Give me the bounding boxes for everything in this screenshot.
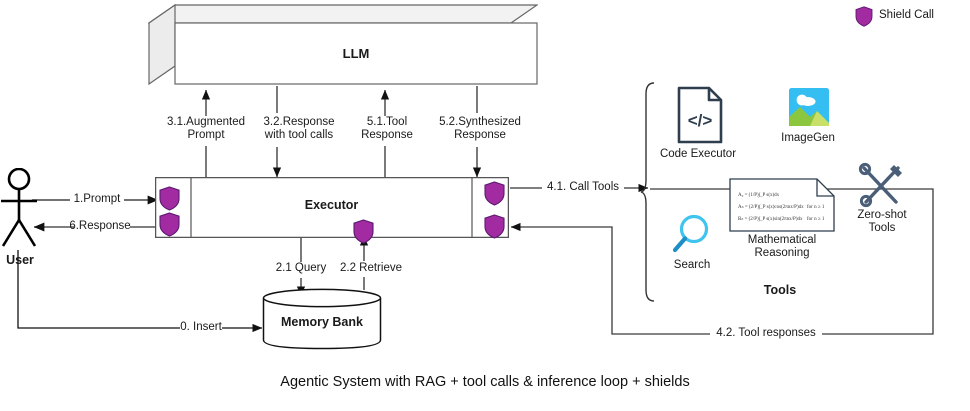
tool-label: Mathematical Reasoning <box>727 234 837 260</box>
svg-text:Aₙ = (2/P)∫_P s(x)cos(2πnx/P)d: Aₙ = (2/P)∫_P s(x)cos(2πnx/P)dx <box>738 204 804 210</box>
shield-icon <box>159 186 180 211</box>
tool-imagegen[interactable]: ImageGen <box>770 86 846 152</box>
tool-label: Search <box>658 259 726 272</box>
tool-mathematical-reasoning[interactable]: A₀ = (1/P)∫_P s(x)dx Aₙ = (2/P)∫_P s(x)c… <box>727 178 837 262</box>
executor-label: Executor <box>191 199 472 212</box>
edge-label-5-2: 5.2.Synthesized Response <box>421 116 539 142</box>
tool-code-executor[interactable]: </> Code Executor <box>652 86 744 162</box>
edge-label-0-insert: 0. Insert <box>176 321 226 334</box>
executor-node[interactable]: Executor <box>155 177 509 238</box>
memory-bank-node[interactable]: Memory Bank <box>262 288 382 350</box>
edge-label-4-2-tool-responses: 4.2. Tool responses <box>710 327 822 340</box>
shield-icon <box>855 6 873 27</box>
svg-text:for n ≥ 1: for n ≥ 1 <box>807 205 825 210</box>
edge-label-2-1-query: 2.1 Query <box>268 262 334 275</box>
shield-icon <box>484 214 505 239</box>
diagram-caption: Agentic System with RAG + tool calls & i… <box>0 374 970 390</box>
edge-label-4-1-call-tools: 4.1. Call Tools <box>538 181 628 194</box>
tool-zero-shot-tools[interactable]: Zero-shot Tools <box>846 162 918 234</box>
memory-bank-label: Memory Bank <box>262 316 382 329</box>
edge-label-1-prompt: 1.Prompt <box>66 193 128 206</box>
shield-icon <box>353 219 374 244</box>
svg-text:</>: </> <box>688 111 713 130</box>
tool-label: Code Executor <box>652 148 744 161</box>
shield-icon <box>484 181 505 206</box>
user-label: User <box>0 254 40 267</box>
llm-label: LLM <box>175 47 537 60</box>
legend-shield-call: Shield Call <box>855 5 967 27</box>
legend-label: Shield Call <box>879 9 959 22</box>
tools-group-label: Tools <box>725 284 835 297</box>
svg-text:Bₙ = (2/P)∫_P s(x)sin(2πnx/P)d: Bₙ = (2/P)∫_P s(x)sin(2πnx/P)dx <box>738 216 803 222</box>
tool-label: ImageGen <box>770 132 846 145</box>
edge-label-2-2-retrieve: 2.2 Retrieve <box>332 262 410 275</box>
llm-node[interactable]: LLM <box>148 4 538 90</box>
user-node[interactable] <box>0 168 60 250</box>
svg-text:for n ≥ 1: for n ≥ 1 <box>807 217 825 222</box>
tool-search[interactable]: Search <box>658 212 726 274</box>
tool-label: Zero-shot Tools <box>846 209 918 235</box>
svg-text:A₀ = (1/P)∫_P s(x)dx: A₀ = (1/P)∫_P s(x)dx <box>738 192 780 198</box>
shield-icon <box>159 212 180 237</box>
edge-label-6-response: 6.Response <box>64 220 136 233</box>
